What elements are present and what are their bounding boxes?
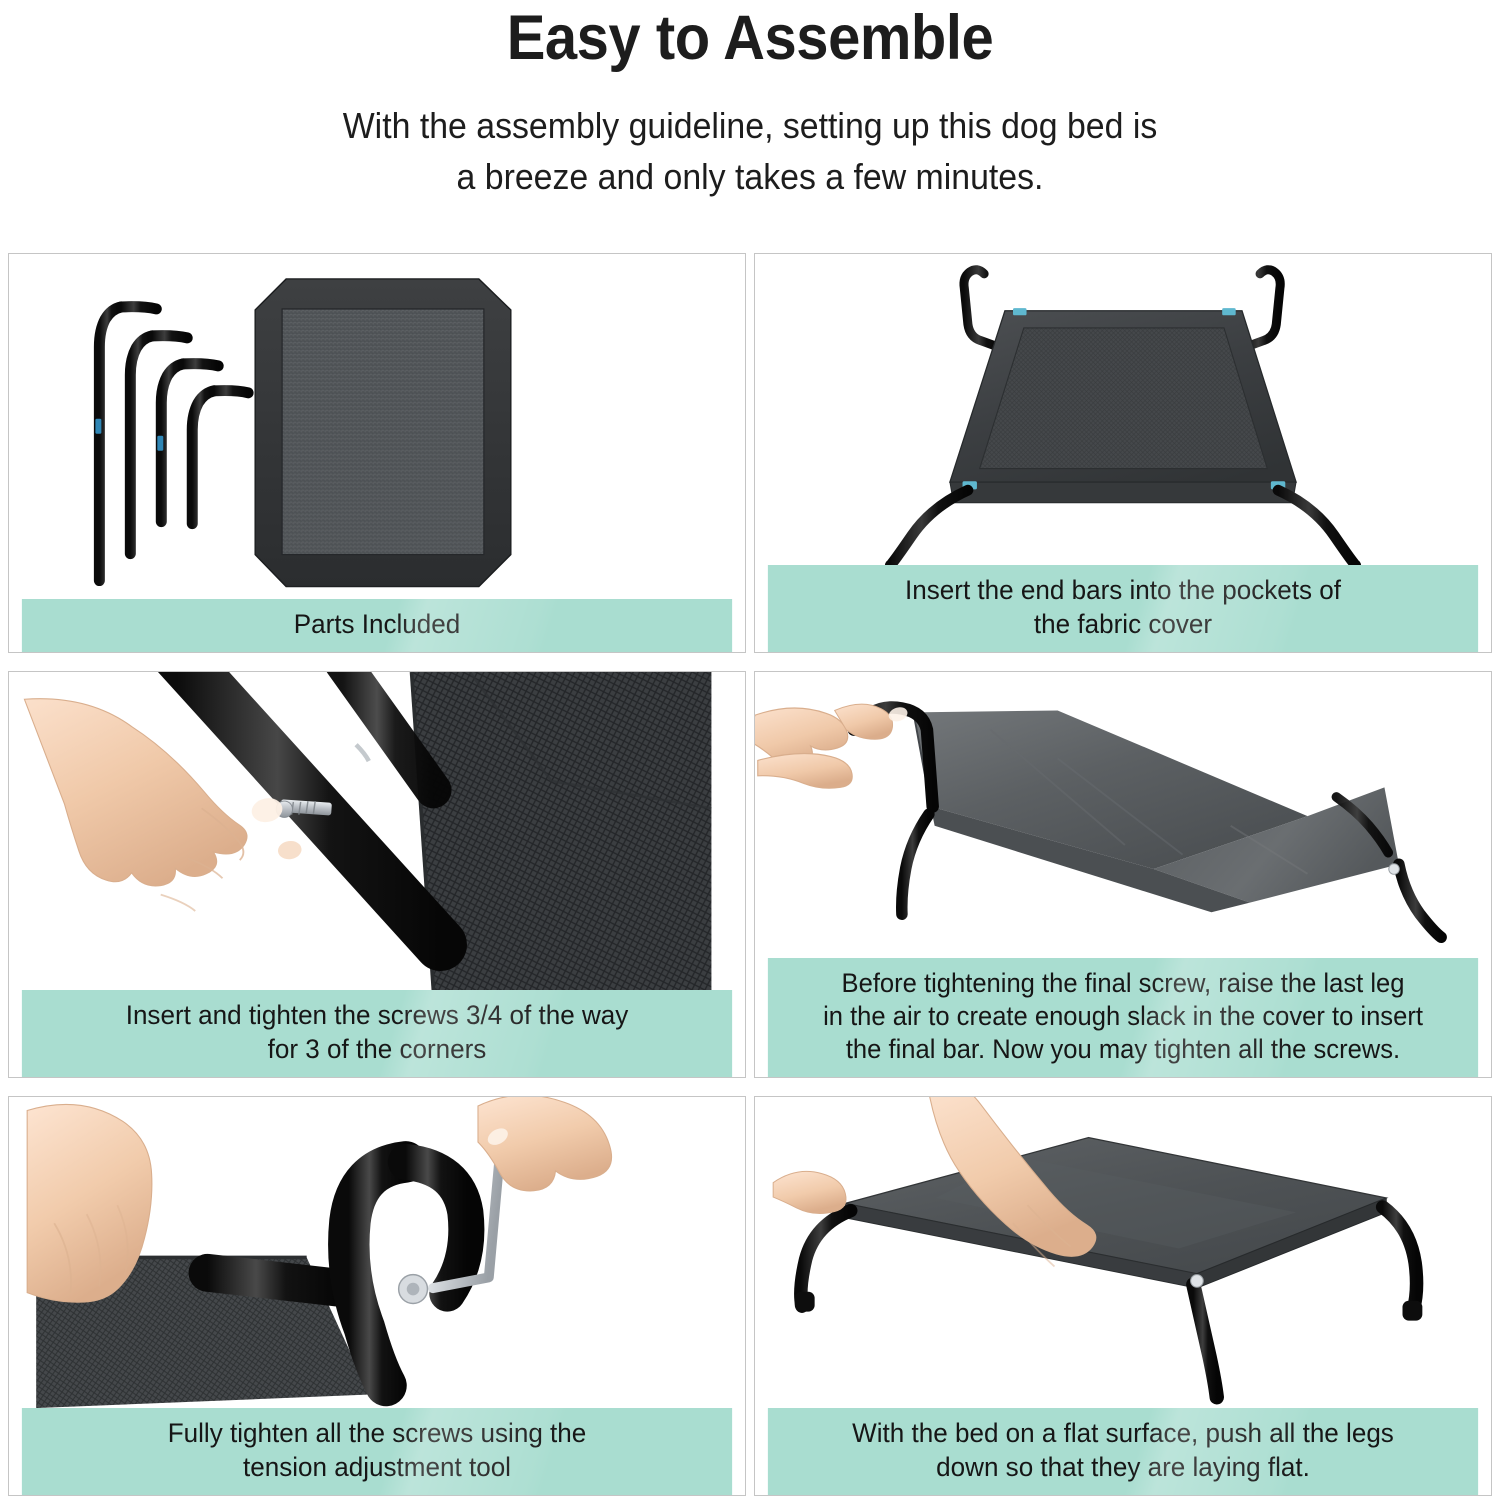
caption-line: Insert and tighten the screws 3/4 of the… [35, 999, 718, 1032]
parts-fabric-cover [255, 279, 511, 587]
caption-line: Before tightening the final screw, raise… [781, 967, 1464, 1000]
caption-line: With the bed on a flat surface, push all… [781, 1417, 1464, 1450]
page-subtitle-line-1: With the assembly guideline, setting up … [45, 100, 1455, 151]
step-image-tighten-three-corners [9, 672, 745, 990]
step-panel-push-legs-flat: With the bed on a flat surface, push all… [754, 1096, 1492, 1496]
caption-line: tension adjustment tool [35, 1451, 718, 1484]
step-panel-raise-last-leg: Before tightening the final screw, raise… [754, 671, 1492, 1078]
step-panel-fully-tighten-screws: Fully tighten all the screws using the t… [8, 1096, 746, 1496]
step-panel-parts-included: Parts Included [8, 253, 746, 653]
step-image-push-legs-flat [755, 1097, 1491, 1408]
step-caption-insert-end-bars: Insert the end bars into the pockets of … [768, 565, 1478, 652]
step-caption-parts-included: Parts Included [22, 599, 732, 652]
step-caption-tighten-three-corners: Insert and tighten the screws 3/4 of the… [22, 990, 732, 1077]
page-header: Easy to Assemble With the assembly guide… [0, 0, 1500, 202]
step-image-fully-tighten-screws [9, 1097, 745, 1408]
page-title: Easy to Assemble [60, 4, 1440, 72]
parts-side-bars [584, 299, 617, 566]
step-caption-push-legs-flat: With the bed on a flat surface, push all… [768, 1408, 1478, 1495]
parts-legs [95, 307, 248, 581]
caption-line: in the air to create enough slack in the… [781, 1000, 1464, 1033]
caption-line: the final bar. Now you may tighten all t… [781, 1033, 1464, 1066]
step-panel-tighten-three-corners: Insert and tighten the screws 3/4 of the… [8, 671, 746, 1078]
hands [755, 704, 909, 788]
bed-fabric-top [950, 311, 1296, 503]
caption-line: for 3 of the corners [35, 1033, 718, 1066]
step-image-parts-included [9, 254, 745, 599]
caption-line: Insert the end bars into the pockets of [781, 574, 1464, 607]
steps-grid: Parts Included [8, 253, 1492, 1496]
caption-line: Fully tighten all the screws using the [35, 1417, 718, 1450]
bed-top-surface [845, 1138, 1386, 1289]
caption-line: the fabric cover [781, 608, 1464, 641]
step-panel-insert-end-bars: Insert the end bars into the pockets of … [754, 253, 1492, 653]
standing-leg [902, 814, 929, 914]
draped-cover [913, 710, 1398, 912]
step-caption-fully-tighten-screws: Fully tighten all the screws using the t… [22, 1408, 732, 1495]
step-caption-raise-last-leg: Before tightening the final screw, raise… [768, 958, 1478, 1077]
caption-line: down so that they are laying flat. [781, 1451, 1464, 1484]
page-subtitle: With the assembly guideline, setting up … [45, 100, 1455, 202]
step-image-raise-last-leg [755, 672, 1491, 958]
caption-line: Parts Included [35, 608, 718, 641]
assembly-infographic: Easy to Assemble With the assembly guide… [0, 0, 1500, 1488]
step-image-insert-end-bars [755, 254, 1491, 565]
page-subtitle-line-2: a breeze and only takes a few minutes. [45, 151, 1455, 202]
